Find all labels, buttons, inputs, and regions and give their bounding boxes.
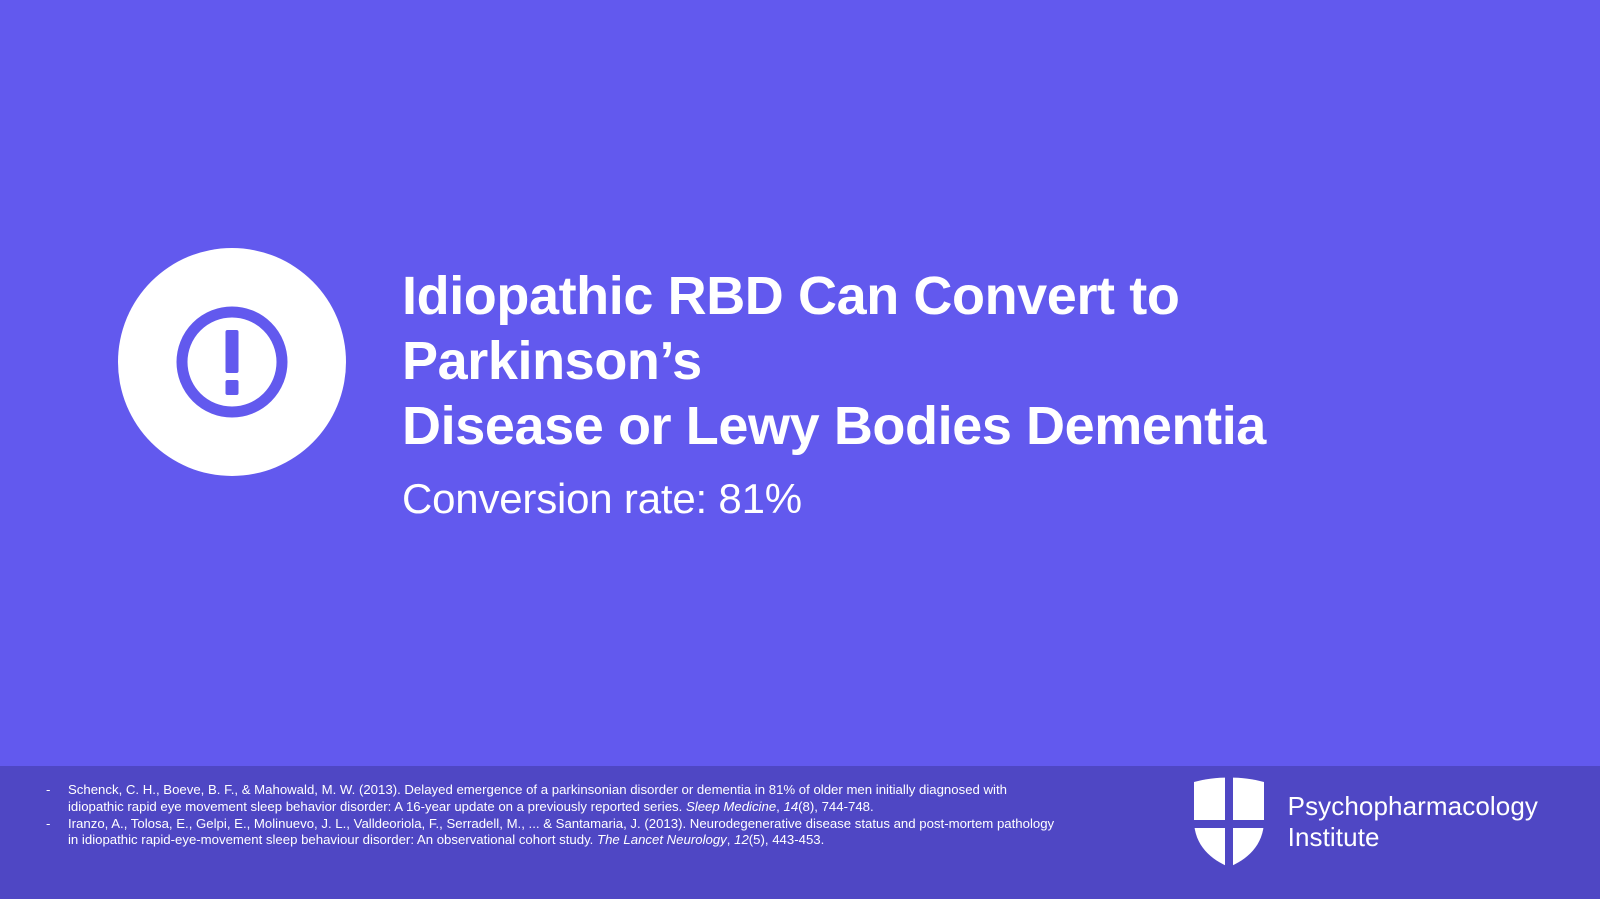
- reference-volume: 12: [734, 832, 749, 847]
- list-item: - Schenck, C. H., Boeve, B. F., & Mahowa…: [46, 782, 1056, 816]
- reference-text: Schenck, C. H., Boeve, B. F., & Mahowald…: [68, 782, 1056, 816]
- footer-bar: - Schenck, C. H., Boeve, B. F., & Mahowa…: [0, 766, 1600, 899]
- reference-bullet: -: [46, 816, 68, 833]
- reference-body: Iranzo, A., Tolosa, E., Gelpi, E., Molin…: [68, 816, 1054, 848]
- shield-logo-icon: [1192, 776, 1266, 868]
- page-subtitle: Conversion rate: 81%: [402, 473, 1442, 525]
- reference-journal: The Lancet Neurology: [597, 832, 727, 847]
- list-item: - Iranzo, A., Tolosa, E., Gelpi, E., Mol…: [46, 816, 1056, 850]
- reference-text: Iranzo, A., Tolosa, E., Gelpi, E., Molin…: [68, 816, 1056, 850]
- reference-volume: 14: [783, 799, 798, 814]
- reference-journal: Sleep Medicine: [686, 799, 776, 814]
- exclamation-circle-icon: [118, 248, 346, 476]
- brand-name: Psychopharmacology Institute: [1288, 791, 1538, 853]
- page-title: Idiopathic RBD Can Convert to Parkinson’…: [402, 264, 1442, 459]
- reference-separator: ,: [727, 832, 734, 847]
- hero-block: Idiopathic RBD Can Convert to Parkinson’…: [118, 248, 1518, 525]
- reference-pages: (8), 744-748.: [798, 799, 874, 814]
- reference-bullet: -: [46, 782, 68, 799]
- reference-pages: (5), 443-453.: [749, 832, 825, 847]
- reference-list: - Schenck, C. H., Boeve, B. F., & Mahowa…: [46, 782, 1056, 849]
- hero-text-block: Idiopathic RBD Can Convert to Parkinson’…: [402, 248, 1442, 525]
- slide-canvas: Idiopathic RBD Can Convert to Parkinson’…: [0, 0, 1600, 899]
- brand-lockup: Psychopharmacology Institute: [1192, 776, 1538, 868]
